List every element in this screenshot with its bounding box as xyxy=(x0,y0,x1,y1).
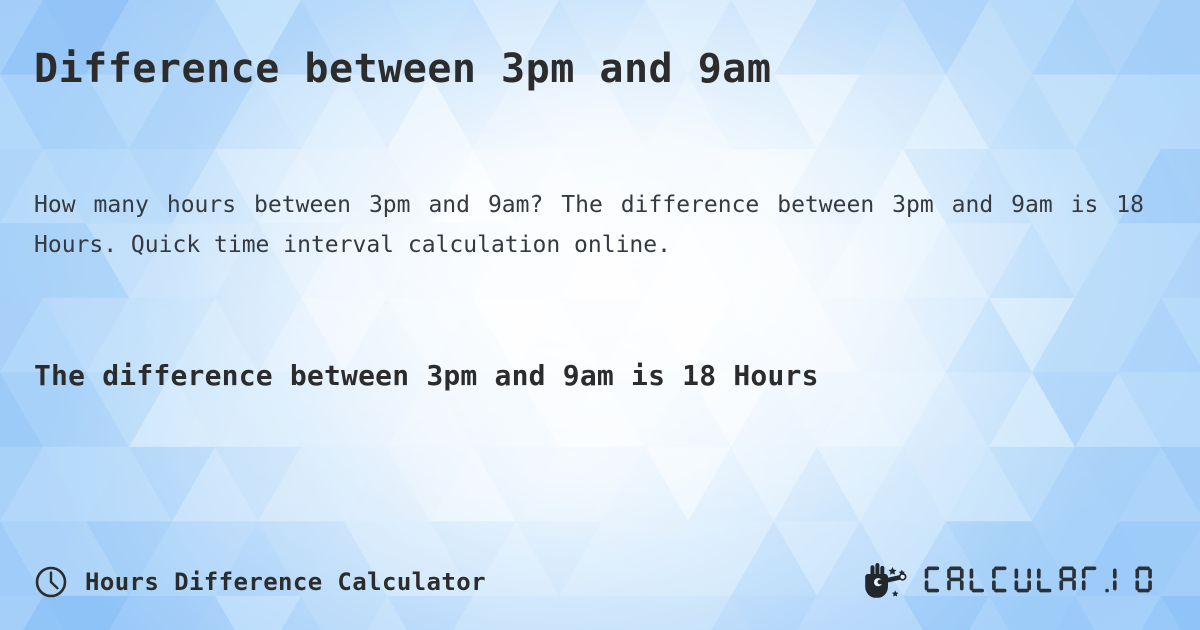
clock-icon xyxy=(34,565,68,599)
footer-brand: Hours Difference Calculator xyxy=(34,565,486,599)
calculatio-wordmark xyxy=(923,563,1158,601)
magic-wand-hand-icon xyxy=(862,562,914,602)
page-description: How many hours between 3pm and 9am? The … xyxy=(34,185,1144,265)
page-title: Difference between 3pm and 9am xyxy=(34,46,771,92)
og-card: Difference between 3pm and 9am How many … xyxy=(0,0,1200,630)
calculatio-logo[interactable] xyxy=(862,562,1158,602)
result-statement: The difference between 3pm and 9am is 18… xyxy=(34,355,1164,397)
footer-brand-label: Hours Difference Calculator xyxy=(85,568,486,596)
footer: Hours Difference Calculator xyxy=(34,556,1166,608)
